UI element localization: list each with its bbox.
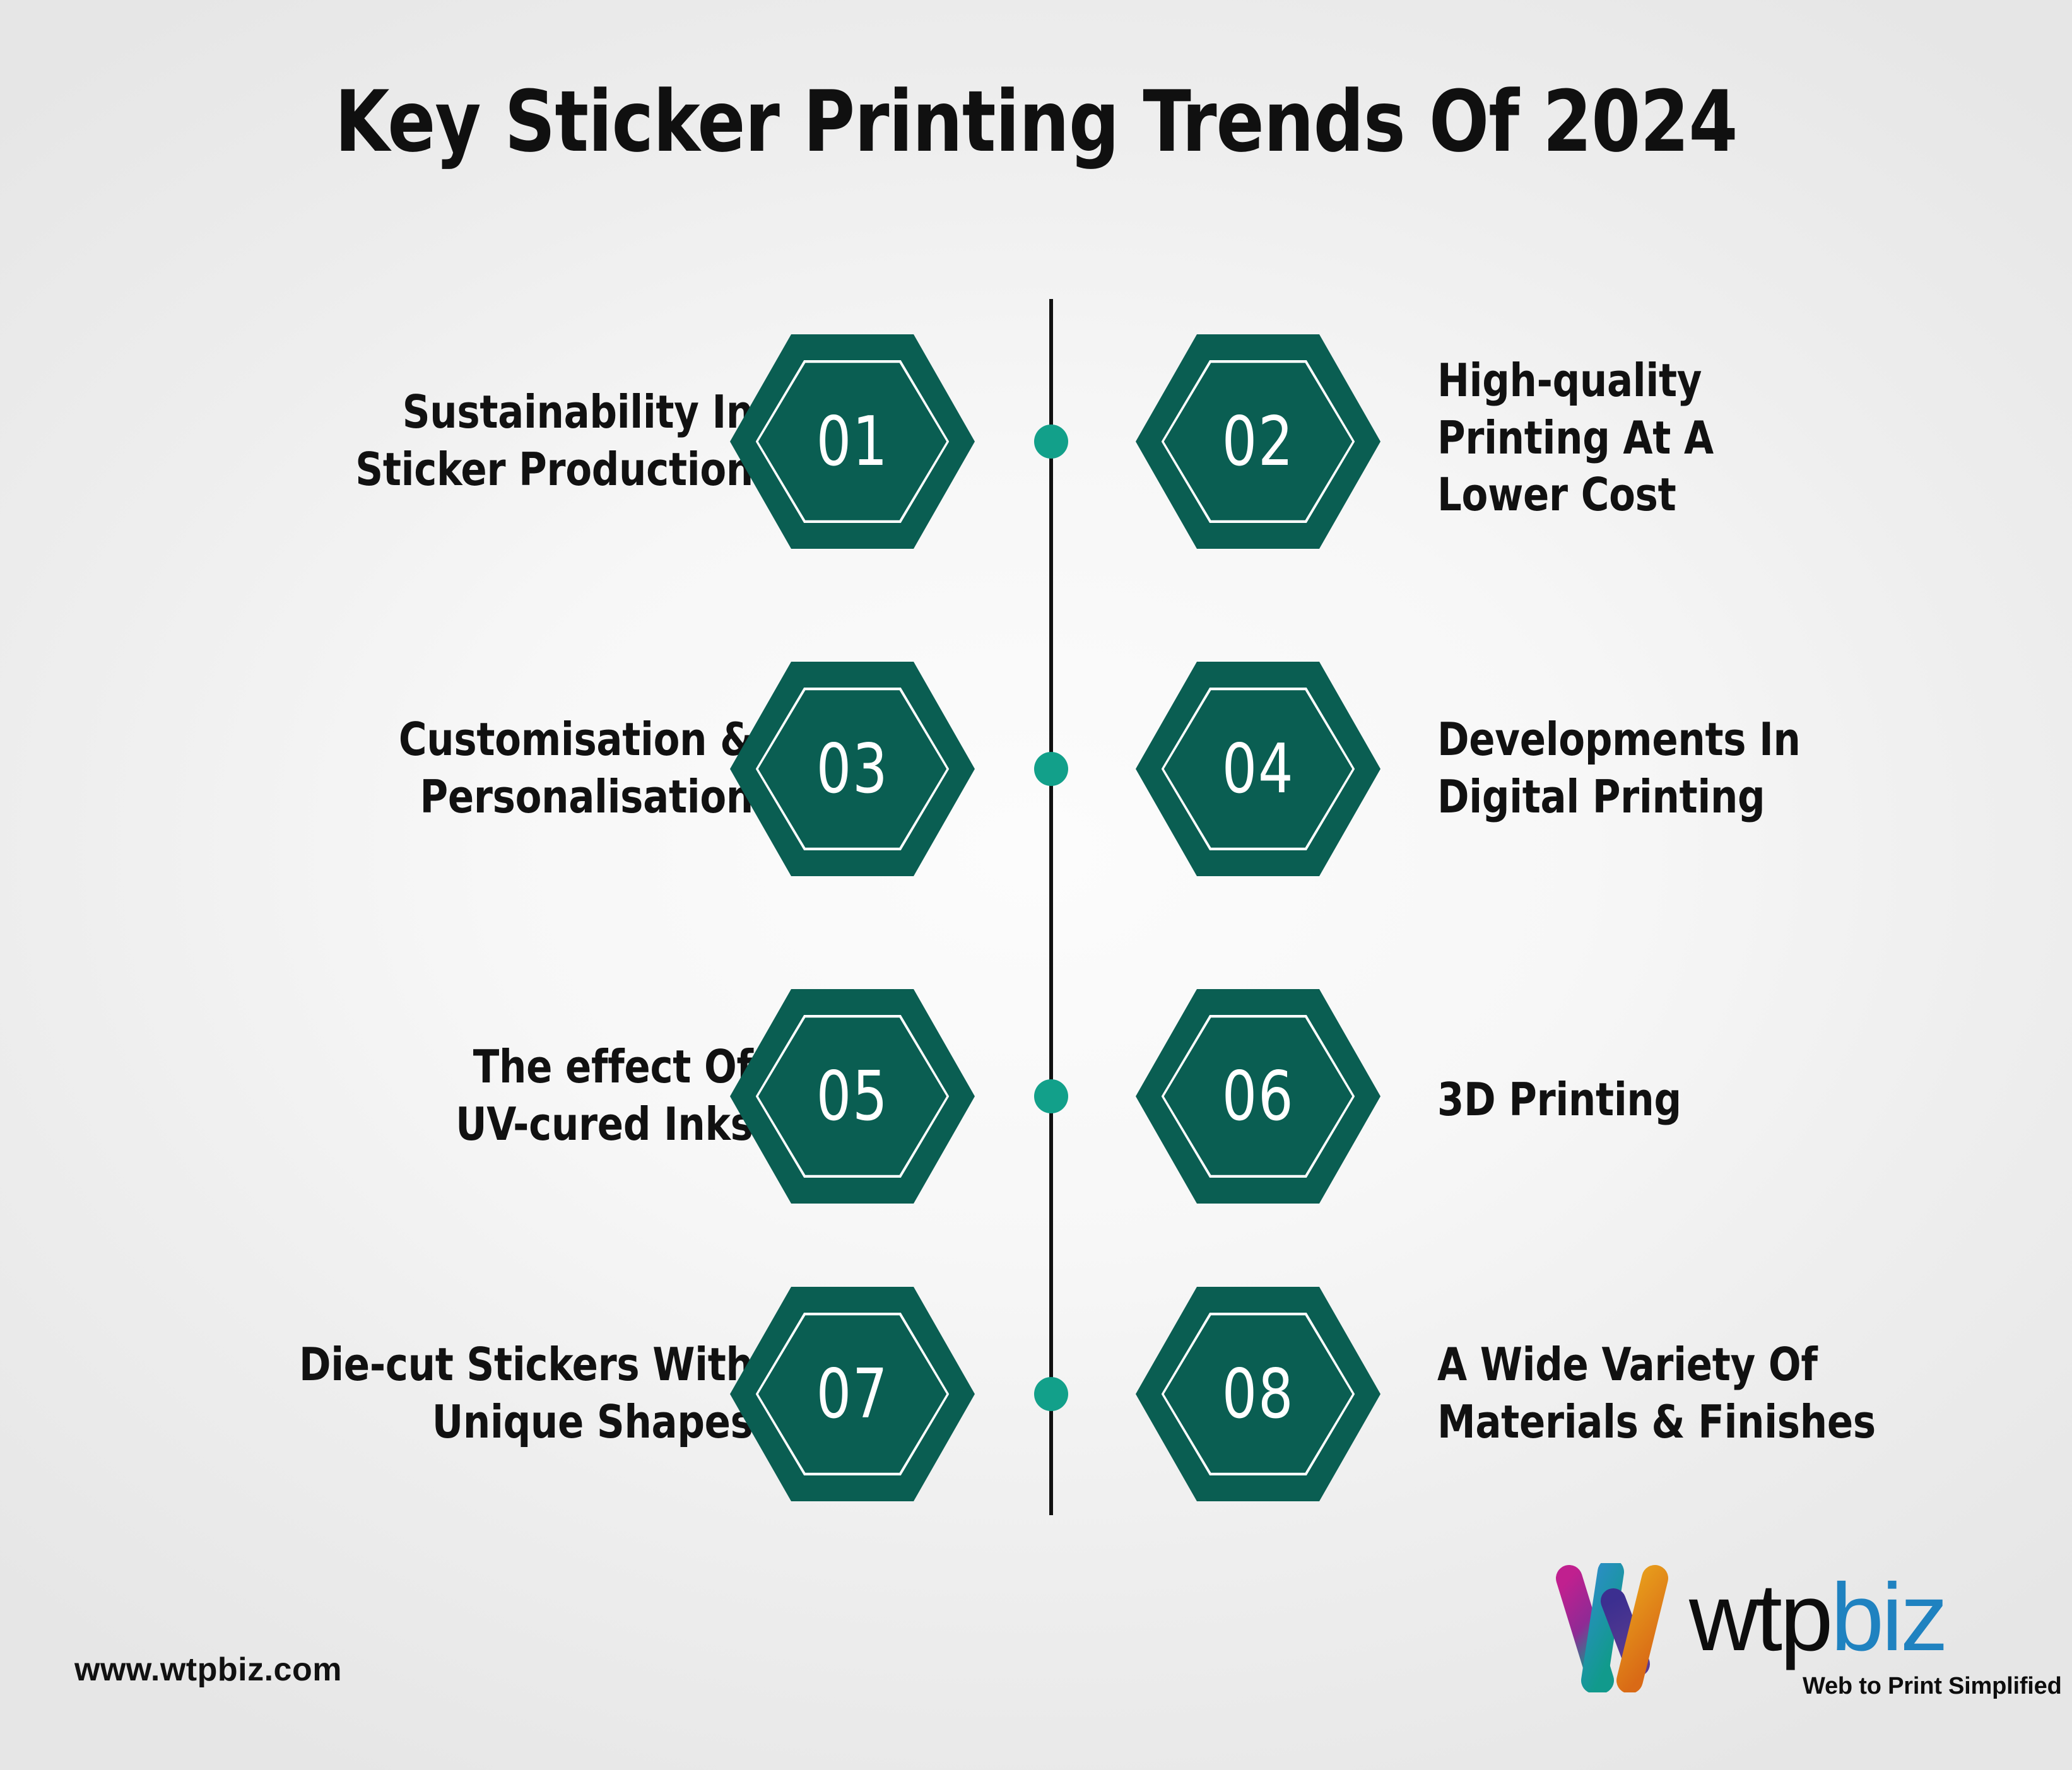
website-url[interactable]: www.wtpbiz.com bbox=[74, 1651, 342, 1689]
trend-hexagon-07[interactable]: 07 bbox=[730, 1287, 975, 1501]
trend-label-08-line-2: Materials & Finishes bbox=[1437, 1393, 1876, 1451]
trend-label-05: The effect Of UV-cured Inks bbox=[456, 1038, 753, 1152]
trend-number-06: 06 bbox=[1148, 989, 1368, 1204]
infographic-canvas: Key Sticker Printing Trends Of 2024 Sust… bbox=[0, 0, 2072, 1770]
trend-hexagon-04[interactable]: 04 bbox=[1136, 662, 1380, 876]
trend-label-01-line-1: Sustainability In bbox=[355, 384, 753, 441]
wtpbiz-logo[interactable]: wtpbiz Web to Print Simplified bbox=[1555, 1558, 2010, 1703]
trend-number-07: 07 bbox=[742, 1287, 962, 1501]
trend-label-04: Developments In Digital Printing bbox=[1437, 711, 1801, 825]
trend-label-02-line-3: Lower Cost bbox=[1437, 466, 1714, 524]
trend-label-01-line-2: Sticker Production bbox=[355, 441, 753, 498]
trend-label-03: Customisation & Personalisation bbox=[399, 711, 753, 825]
page-title: Key Sticker Printing Trends Of 2024 bbox=[73, 74, 1999, 169]
trend-number-04: 04 bbox=[1148, 662, 1368, 876]
wtpbiz-wordmark: wtpbiz bbox=[1689, 1569, 1946, 1665]
trend-label-04-line-1: Developments In bbox=[1437, 711, 1801, 768]
trend-row-4: Die-cut Stickers With Unique Shapes 07 0… bbox=[0, 1287, 2072, 1501]
wordmark-wtp: wtp bbox=[1689, 1564, 1831, 1671]
trend-number-03: 03 bbox=[742, 662, 962, 876]
trend-number-01: 01 bbox=[742, 334, 962, 549]
trend-label-08-line-1: A Wide Variety Of bbox=[1437, 1336, 1876, 1393]
trend-label-02-line-1: High-quality bbox=[1437, 352, 1714, 409]
trend-hexagon-01[interactable]: 01 bbox=[730, 334, 975, 549]
trend-label-01: Sustainability In Sticker Production bbox=[355, 384, 753, 498]
trend-label-02: High-quality Printing At A Lower Cost bbox=[1437, 352, 1714, 524]
wtpbiz-w-mark-icon bbox=[1555, 1563, 1681, 1692]
trend-number-05: 05 bbox=[742, 989, 962, 1204]
trend-hexagon-03[interactable]: 03 bbox=[730, 662, 975, 876]
trend-hexagon-02[interactable]: 02 bbox=[1136, 334, 1380, 549]
trend-row-3: The effect Of UV-cured Inks 05 06 3D Pri… bbox=[0, 989, 2072, 1204]
trend-label-03-line-1: Customisation & bbox=[399, 711, 753, 768]
trend-label-05-line-1: The effect Of bbox=[456, 1038, 753, 1096]
trend-label-07: Die-cut Stickers With Unique Shapes bbox=[299, 1336, 753, 1450]
trend-hexagon-05[interactable]: 05 bbox=[730, 989, 975, 1204]
trend-label-05-line-2: UV-cured Inks bbox=[456, 1096, 753, 1153]
trend-label-08: A Wide Variety Of Materials & Finishes bbox=[1437, 1336, 1876, 1450]
trend-label-03-line-2: Personalisation bbox=[399, 768, 753, 826]
trend-row-1: Sustainability In Sticker Production 01 … bbox=[0, 334, 2072, 549]
wordmark-biz: biz bbox=[1831, 1564, 1946, 1671]
trend-number-02: 02 bbox=[1148, 334, 1368, 549]
logo-tagline: Web to Print Simplified bbox=[1803, 1673, 2062, 1700]
trend-label-07-line-1: Die-cut Stickers With bbox=[299, 1336, 753, 1393]
trend-number-08: 08 bbox=[1148, 1287, 1368, 1501]
trend-row-2: Customisation & Personalisation 03 04 De… bbox=[0, 662, 2072, 876]
trend-hexagon-06[interactable]: 06 bbox=[1136, 989, 1380, 1204]
trend-label-07-line-2: Unique Shapes bbox=[299, 1393, 753, 1451]
trend-label-02-line-2: Printing At A bbox=[1437, 409, 1714, 467]
trend-hexagon-08[interactable]: 08 bbox=[1136, 1287, 1380, 1501]
trend-label-06: 3D Printing bbox=[1437, 1071, 1681, 1128]
trend-label-04-line-2: Digital Printing bbox=[1437, 768, 1801, 826]
trend-label-06-line-1: 3D Printing bbox=[1437, 1071, 1681, 1128]
